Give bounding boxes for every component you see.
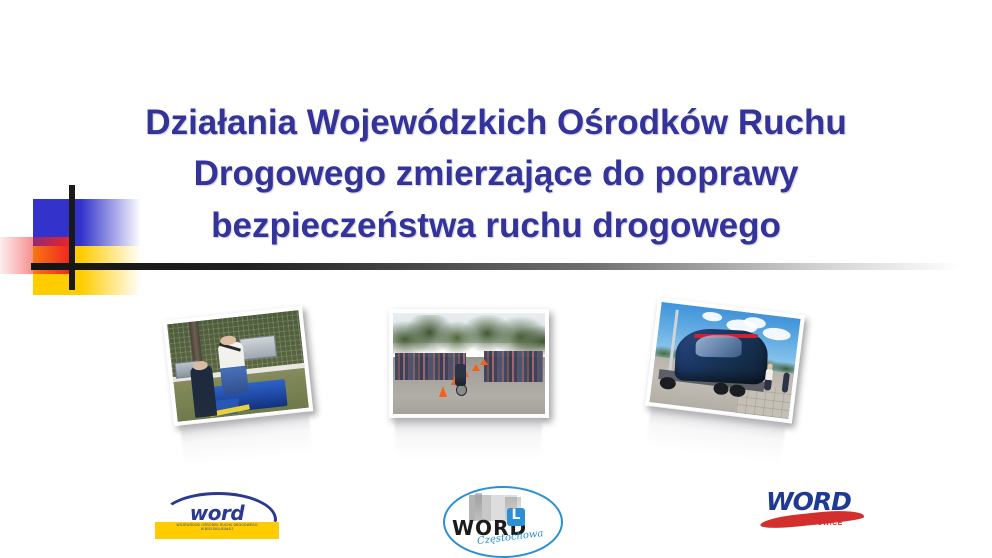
photo-bicycle-slalom-crowd	[389, 309, 549, 418]
title-line-1: Działania Wojewódzkich Ośrodków Ruchu	[96, 97, 896, 148]
photo2-traffic-cone	[439, 386, 447, 397]
word-czestochowa-logo: WORD L Częstochowa	[443, 486, 559, 554]
photo-image	[649, 302, 800, 419]
photo2-cyclist	[455, 364, 466, 386]
photo-frame	[389, 309, 549, 418]
word-logo-left: word WOJEWÓDZKI OŚRODEK RUCHU DROGOWEGO …	[155, 492, 279, 548]
photo-rollover-car-on-trailer	[645, 297, 805, 423]
photo2-traffic-cone	[480, 359, 488, 365]
photo2-crowd-right	[484, 351, 543, 381]
photo2-reflection	[395, 418, 542, 458]
photo-image	[167, 310, 309, 422]
photo-rollover-simulator-demo	[163, 306, 314, 426]
word-logo-left-band-line-2: W BIELSKU-BIAŁEJ	[155, 527, 279, 531]
decor-yellow-fade	[81, 246, 141, 295]
photo-frame	[163, 306, 314, 426]
slide-title: Działania Wojewódzkich Ośrodków Ruchu Dr…	[96, 97, 896, 251]
title-line-2: Drogowego zmierzające do poprawy	[96, 148, 896, 199]
word-katowice-logo: WORD KATOWICE	[760, 487, 868, 537]
photo1-sign-board	[239, 334, 278, 360]
photo2-bicycle	[456, 384, 467, 396]
word-katowice-city: KATOWICE	[802, 520, 868, 527]
word-logo-left-band-text: WOJEWÓDZKI OŚRODEK RUCHU DROGOWEGO W BIE…	[155, 523, 279, 531]
photo-frame	[645, 297, 805, 423]
decor-horizontal-rule	[31, 263, 961, 270]
photo3-car-windshield	[696, 335, 743, 358]
photo-image	[393, 313, 545, 414]
presentation-slide: Działania Wojewódzkich Ośrodków Ruchu Dr…	[0, 0, 992, 558]
photo1-person-seated-legs	[221, 367, 249, 395]
title-line-3: bezpieczeństwa ruchu drogowego	[96, 200, 896, 251]
learner-plate-letter: L	[507, 507, 525, 523]
decor-vertical-bar	[69, 185, 75, 290]
